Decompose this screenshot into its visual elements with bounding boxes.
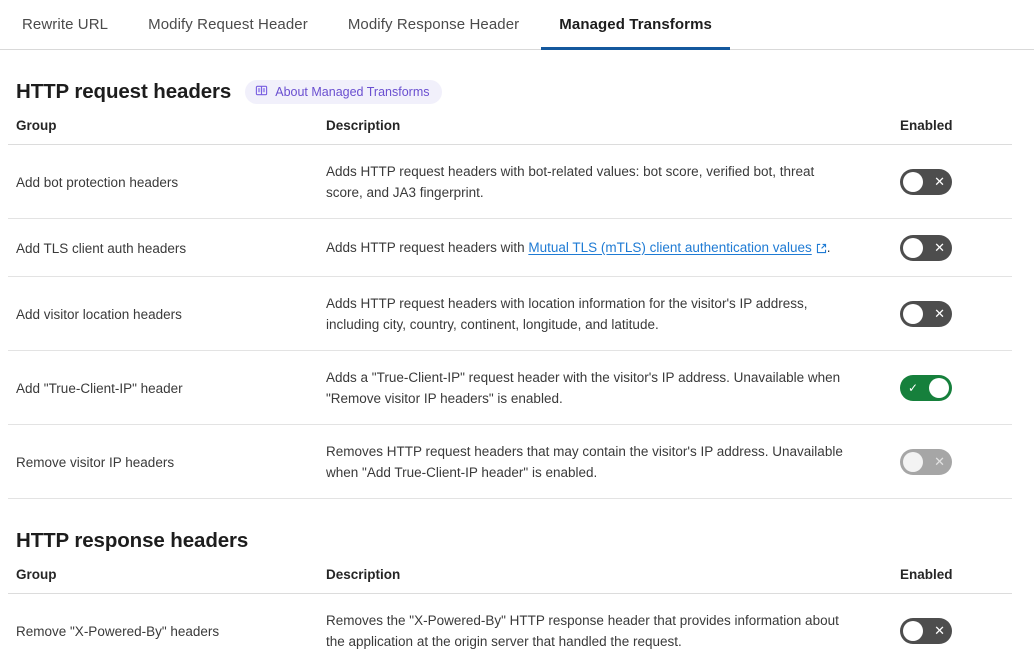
column-header-description: Description [320,118,882,145]
response-section-title: HTTP response headers [16,529,248,553]
row-description: Removes HTTP request headers that may co… [320,425,882,499]
about-managed-transforms-badge[interactable]: About Managed Transforms [245,80,442,104]
toggle-x-icon: ✕ [934,449,945,475]
row-description: Adds HTTP request headers with location … [320,277,882,351]
toggle-x-icon: ✕ [934,169,945,195]
row-description: Adds a "True-Client-IP" request header w… [320,351,882,425]
tab-modify-request-header[interactable]: Modify Request Header [148,0,308,49]
request-headers-table: Group Description Enabled Add bot protec… [8,118,1012,499]
response-table-header-row: Group Description Enabled [8,567,1012,594]
table-row: Add visitor location headers Adds HTTP r… [8,277,1012,351]
column-header-group: Group [8,118,320,145]
toggle-add-visitor-location-headers[interactable]: ✕ [900,301,952,327]
toggle-add-tls-client-auth-headers[interactable]: ✕ [900,235,952,261]
tab-rewrite-url[interactable]: Rewrite URL [22,0,108,49]
column-header-group: Group [8,567,320,594]
column-header-description: Description [320,567,882,594]
row-enabled-cell: ✕ [882,594,1012,653]
toggle-x-icon: ✕ [934,301,945,327]
response-headers-table: Group Description Enabled Remove "X-Powe… [8,567,1012,653]
about-badge-label: About Managed Transforms [275,85,429,99]
toggle-remove-x-powered-by-headers[interactable]: ✕ [900,618,952,644]
column-header-enabled: Enabled [882,567,1012,594]
row-group-label: Remove visitor IP headers [8,425,320,499]
table-row: Remove "X-Powered-By" headers Removes th… [8,594,1012,653]
toggle-knob [903,304,923,324]
request-section-header: HTTP request headers About Managed Trans… [8,80,1012,104]
book-icon [255,84,268,100]
row-enabled-cell: ✕ [882,219,1012,277]
column-header-enabled: Enabled [882,118,1012,145]
request-section-title: HTTP request headers [16,80,231,104]
tab-bar: Rewrite URL Modify Request Header Modify… [0,0,1034,50]
external-link-icon[interactable] [816,239,827,260]
row-description: Adds HTTP request headers with bot-relat… [320,145,882,219]
row-group-label: Add "True-Client-IP" header [8,351,320,425]
toggle-check-icon: ✓ [908,375,918,401]
table-row: Add "True-Client-IP" header Adds a "True… [8,351,1012,425]
row-enabled-cell: ✕ [882,425,1012,499]
table-row: Add bot protection headers Adds HTTP req… [8,145,1012,219]
request-table-header-row: Group Description Enabled [8,118,1012,145]
row-group-label: Add TLS client auth headers [8,219,320,277]
row-description-text-pre: Adds HTTP request headers with [326,240,528,255]
toggle-knob [929,378,949,398]
row-group-label: Add bot protection headers [8,145,320,219]
row-enabled-cell: ✕ [882,277,1012,351]
row-description-text-post: . [827,240,831,255]
row-description: Adds HTTP request headers with Mutual TL… [320,219,882,277]
toggle-add-bot-protection-headers[interactable]: ✕ [900,169,952,195]
toggle-x-icon: ✕ [934,235,945,261]
toggle-add-true-client-ip-header[interactable]: ✓ [900,375,952,401]
toggle-x-icon: ✕ [934,618,945,644]
toggle-knob [903,621,923,641]
row-group-label: Add visitor location headers [8,277,320,351]
toggle-remove-visitor-ip-headers: ✕ [900,449,952,475]
http-response-headers-section: HTTP response headers Group Description … [0,529,1034,653]
row-enabled-cell: ✕ [882,145,1012,219]
toggle-knob [903,172,923,192]
response-section-header: HTTP response headers [8,529,1012,553]
row-enabled-cell: ✓ [882,351,1012,425]
tab-modify-response-header[interactable]: Modify Response Header [348,0,519,49]
tab-managed-transforms[interactable]: Managed Transforms [559,0,712,49]
row-description: Removes the "X-Powered-By" HTTP response… [320,594,882,653]
table-row: Remove visitor IP headers Removes HTTP r… [8,425,1012,499]
http-request-headers-section: HTTP request headers About Managed Trans… [0,80,1034,499]
mutual-tls-link[interactable]: Mutual TLS (mTLS) client authentication … [528,240,811,255]
toggle-knob [903,452,923,472]
table-row: Add TLS client auth headers Adds HTTP re… [8,219,1012,277]
row-group-label: Remove "X-Powered-By" headers [8,594,320,653]
toggle-knob [903,238,923,258]
